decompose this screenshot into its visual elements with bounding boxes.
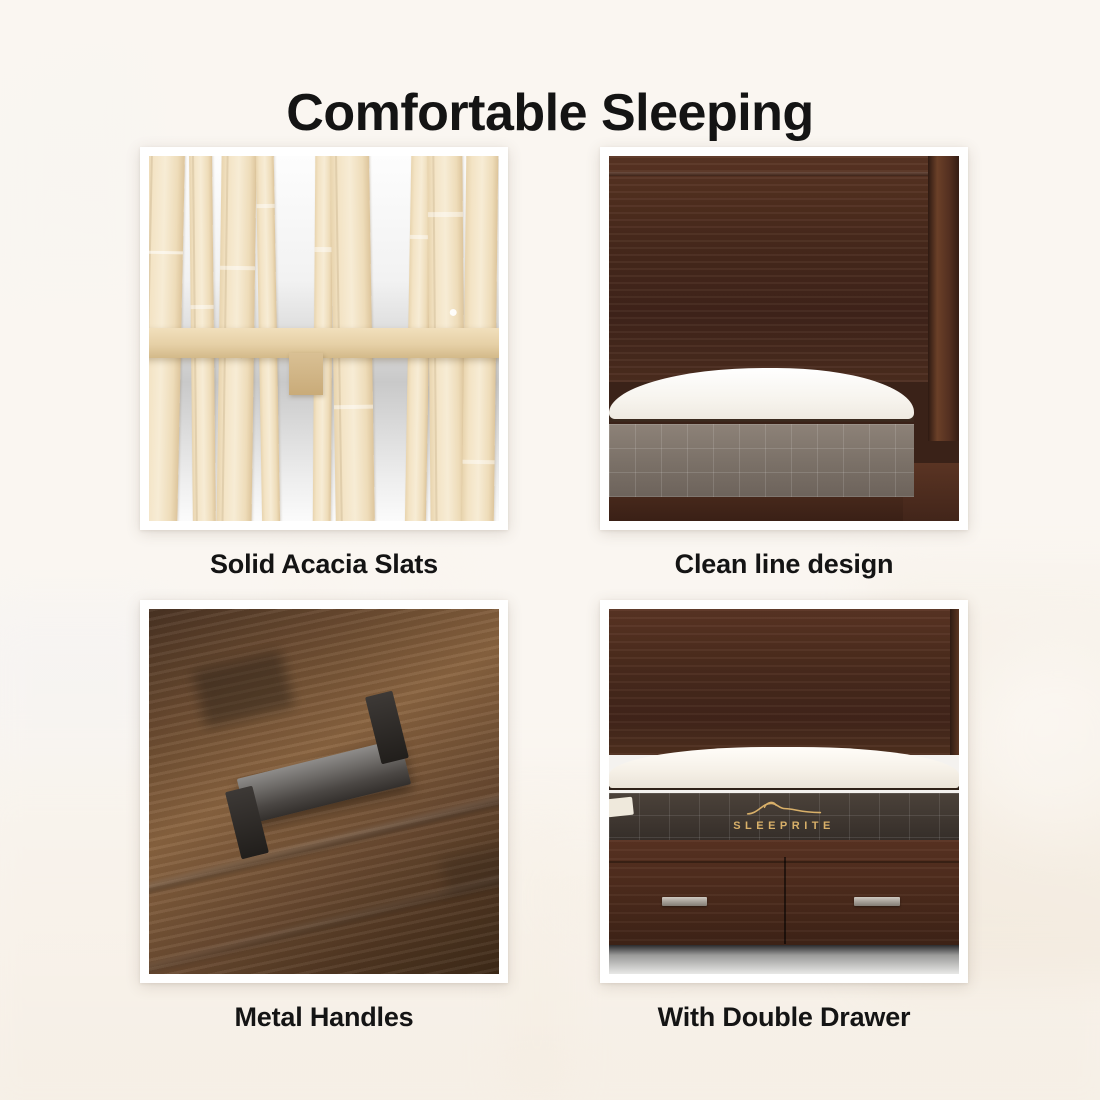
floor-shadow <box>609 945 959 974</box>
feature-caption: With Double Drawer <box>600 1003 968 1033</box>
photo-frame <box>600 147 968 530</box>
headboard-panel <box>609 156 928 382</box>
photo-frame <box>140 600 508 983</box>
headboard-post <box>950 609 959 755</box>
headboard-photo <box>609 156 959 521</box>
feature-card-solid-acacia-slats[interactable]: Solid Acacia Slats <box>140 147 508 580</box>
wood-support-block <box>289 353 323 395</box>
headboard-post <box>928 156 960 441</box>
feature-card-with-double-drawer[interactable]: SLEEPRITE With Double Drawer <box>600 600 968 1033</box>
blurred-handle-background <box>192 650 294 729</box>
feature-card-clean-line-design[interactable]: Clean line design <box>600 147 968 580</box>
feature-caption: Clean line design <box>600 550 968 580</box>
wood-cross-rail <box>149 328 499 358</box>
photo-frame <box>140 147 508 530</box>
feature-card-metal-handles[interactable]: Metal Handles <box>140 600 508 1033</box>
mattress-quilted-side <box>609 424 914 497</box>
drawer-pull-left <box>662 897 708 906</box>
mattress-pillow-top <box>609 747 959 787</box>
page-title: Comfortable Sleeping <box>0 87 1100 139</box>
sleeprite-logo: SLEEPRITE <box>693 797 875 832</box>
feature-caption: Metal Handles <box>140 1003 508 1033</box>
feature-grid: Solid Acacia Slats Clean line design <box>140 147 968 1032</box>
mattress-label-tag <box>609 797 634 818</box>
sleeprite-logo-text: SLEEPRITE <box>693 820 875 832</box>
photo-frame: SLEEPRITE <box>600 600 968 983</box>
headboard-panel <box>609 609 950 755</box>
double-drawer-photo: SLEEPRITE <box>609 609 959 974</box>
drawer-divider <box>784 857 786 945</box>
metal-handle-photo <box>149 609 499 974</box>
sleeping-figure-icon <box>745 797 823 819</box>
wood-slats-photo <box>149 156 499 521</box>
drawer-pull-right <box>854 897 900 906</box>
feature-caption: Solid Acacia Slats <box>140 550 508 580</box>
